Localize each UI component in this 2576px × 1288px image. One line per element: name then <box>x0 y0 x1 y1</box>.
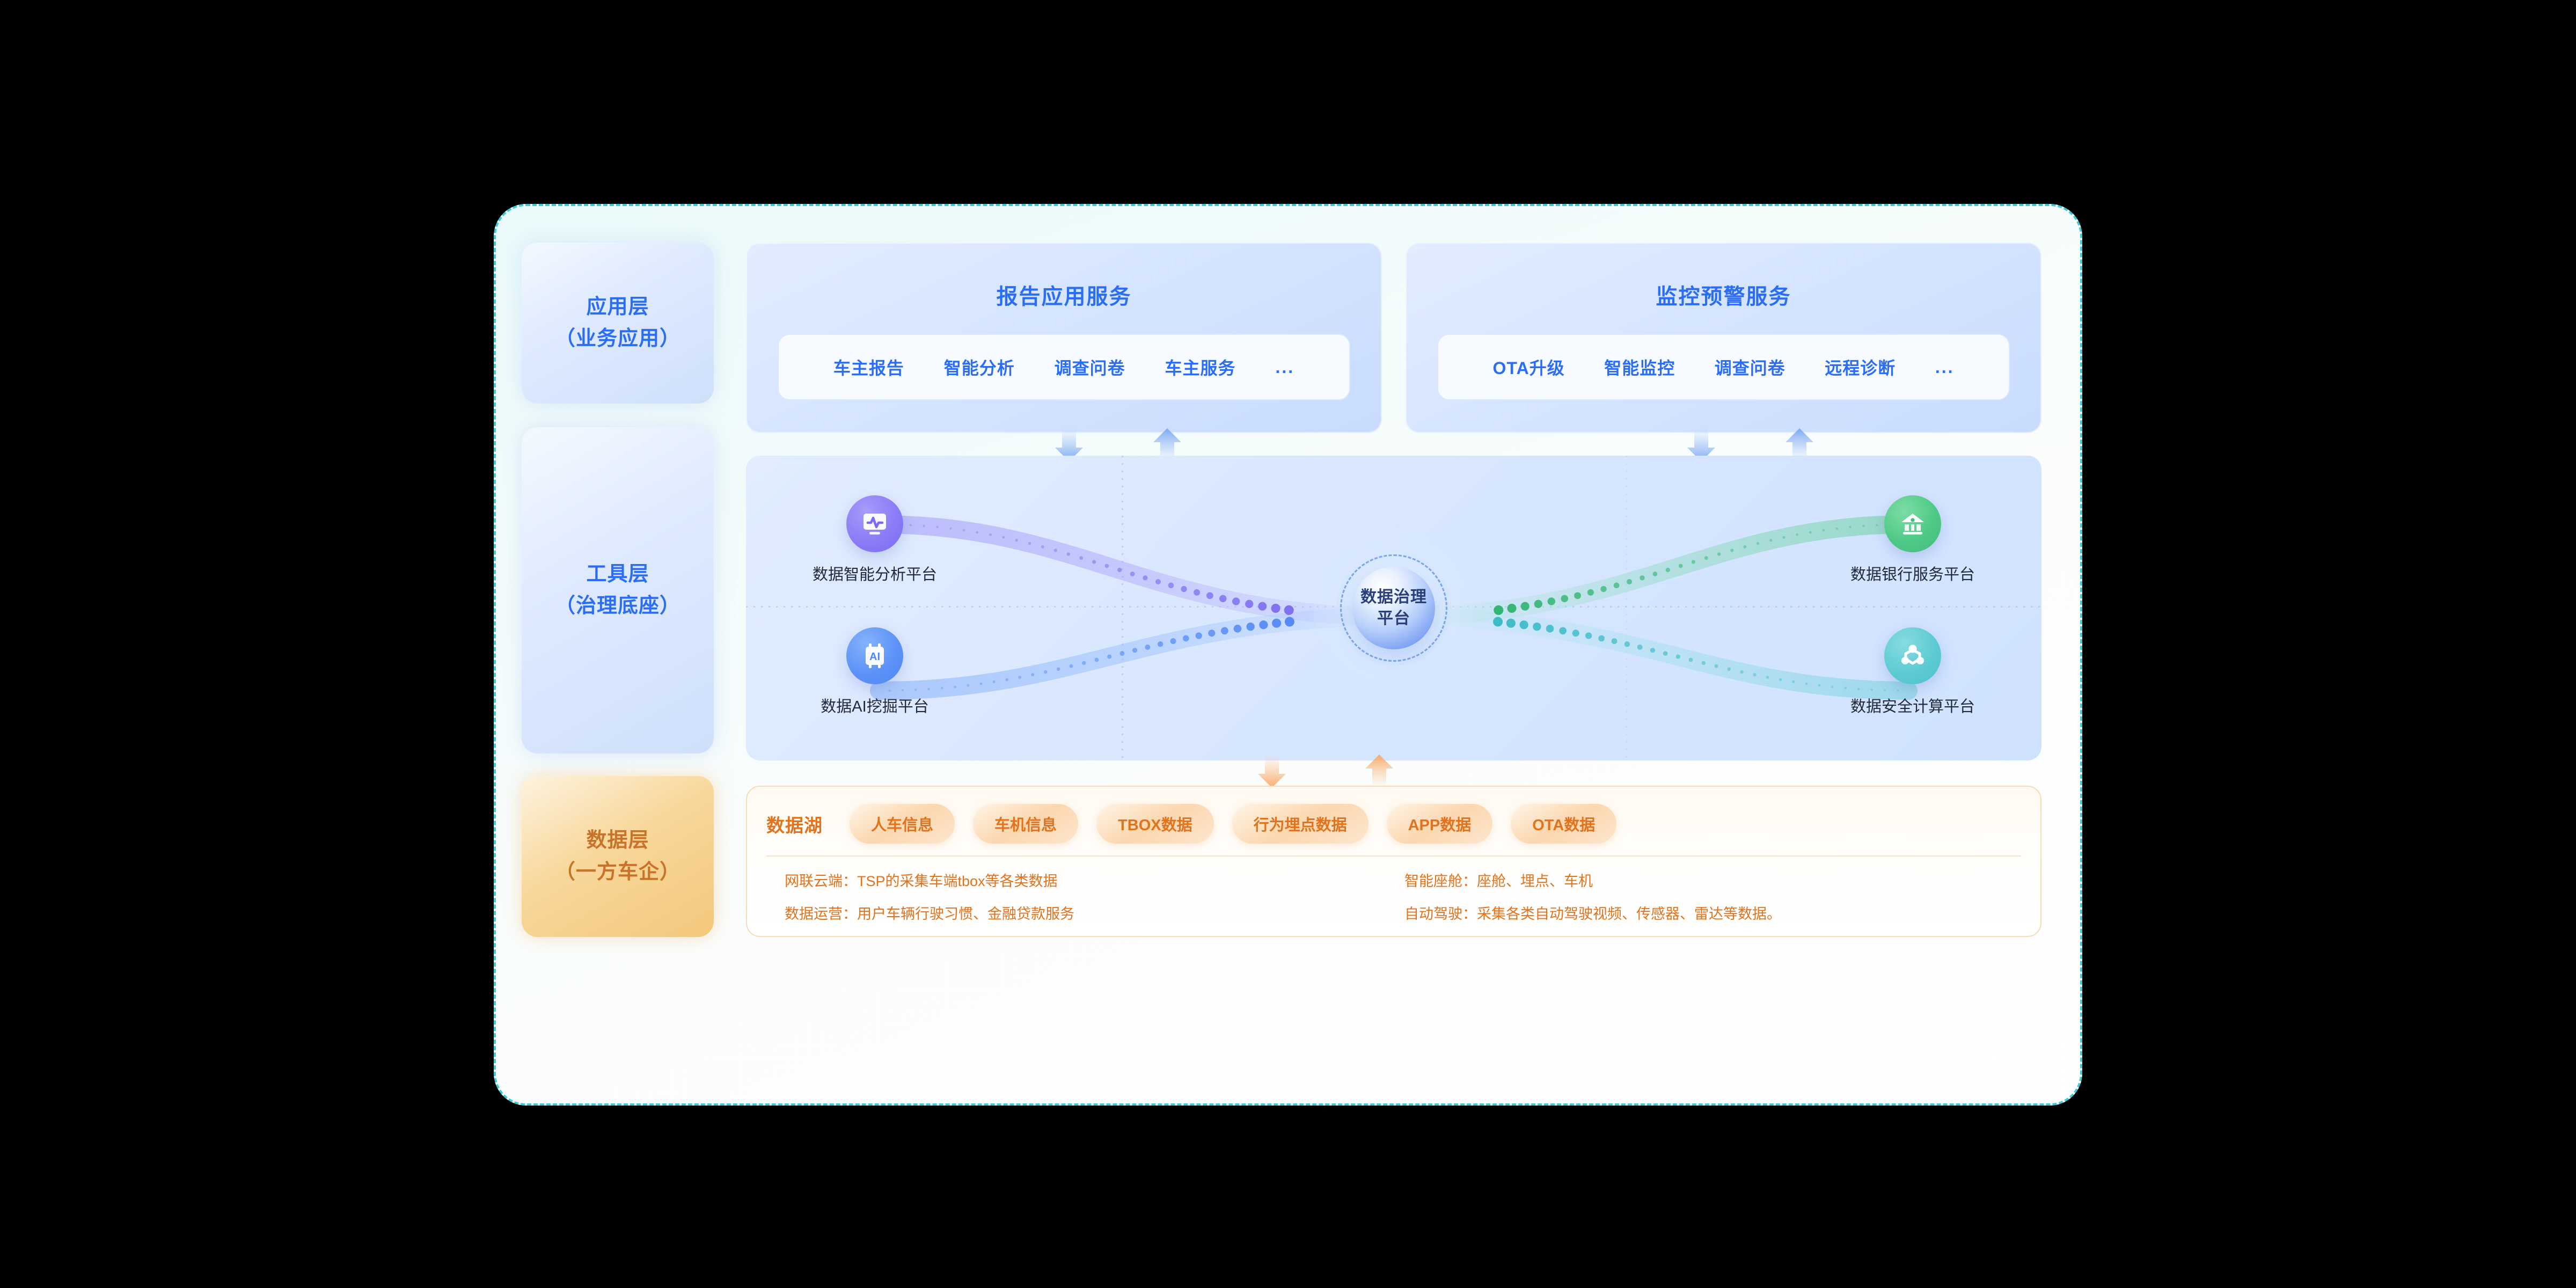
data-lake-description: 智能座舱：座舱、埋点、车机 <box>1404 869 2003 890</box>
data-lake-description: 自动驾驶：采集各类自动驾驶视频、传感器、雷达等数据。 <box>1404 902 2003 923</box>
platform-label: 数据安全计算平台 <box>1850 694 1975 716</box>
layer-card-title: 工具层 <box>586 559 649 590</box>
platform-node-ai[interactable]: AI 数据AI挖掘平台 <box>821 627 928 716</box>
service-item[interactable]: 智能监控 <box>1604 355 1675 379</box>
platform-label: 数据AI挖掘平台 <box>821 694 928 716</box>
platform-label: 数据银行服务平台 <box>1850 562 1975 584</box>
data-lake-title: 数据湖 <box>766 811 823 837</box>
data-lake-tag[interactable]: TBOX数据 <box>1096 804 1214 844</box>
layer-card-tool[interactable]: 工具层 （治理底座） <box>522 427 714 753</box>
service-item[interactable]: 远程诊断 <box>1825 355 1896 379</box>
data-lake-tag[interactable]: APP数据 <box>1387 804 1493 844</box>
data-lake-description: 网联云端：TSP的采集车端tbox等各类数据 <box>785 869 1383 890</box>
center-title-line2: 平台 <box>1377 608 1410 630</box>
svg-text:AI: AI <box>869 651 880 663</box>
layer-card-data[interactable]: 数据层 （一方车企） <box>522 776 714 937</box>
service-item-more[interactable]: ... <box>1935 357 1955 377</box>
service-panel-report[interactable]: 报告应用服务 车主报告 智能分析 调查问卷 车主服务 ... <box>746 243 1382 433</box>
ai-chip-icon: AI <box>846 627 903 684</box>
layer-card-title: 应用层 <box>586 291 649 323</box>
data-lake-tag[interactable]: OTA数据 <box>1511 804 1616 844</box>
shield-network-icon <box>1884 627 1941 684</box>
service-panel-title: 监控预警服务 <box>1656 279 1791 310</box>
service-panel-monitor[interactable]: 监控预警服务 OTA升级 智能监控 调查问卷 远程诊断 ... <box>1406 243 2041 433</box>
service-item[interactable]: 调查问卷 <box>1715 355 1785 379</box>
data-lake-description-grid: 网联云端：TSP的采集车端tbox等各类数据 智能座舱：座舱、埋点、车机 数据运… <box>785 868 2003 924</box>
layer-card-subtitle: （业务应用） <box>555 323 680 355</box>
platform-node-analysis[interactable]: 数据智能分析平台 <box>821 495 928 584</box>
service-item-more[interactable]: ... <box>1275 357 1294 377</box>
layer-card-subtitle: （一方车企） <box>555 857 680 888</box>
layer-card-title: 数据层 <box>586 825 649 857</box>
data-lake-tag[interactable]: 行为埋点数据 <box>1232 804 1368 844</box>
data-lake-description: 数据运营：用户车辆行驶习惯、金融贷款服务 <box>785 902 1383 923</box>
center-title-line1: 数据治理 <box>1360 587 1427 609</box>
data-lake-tag[interactable]: 人车信息 <box>850 804 955 844</box>
service-item[interactable]: 调查问卷 <box>1055 355 1125 379</box>
service-item[interactable]: 车主报告 <box>833 355 904 379</box>
platform-label: 数据智能分析平台 <box>813 562 937 584</box>
layer-card-subtitle: （治理底座） <box>555 590 680 622</box>
monitor-waveform-icon <box>846 495 903 552</box>
platform-node-sec[interactable]: 数据安全计算平台 <box>1859 627 1966 716</box>
center-node-data-governance[interactable]: 数据治理 平台 <box>1313 528 1474 689</box>
service-panel-title: 报告应用服务 <box>997 279 1132 310</box>
service-item-row: OTA升级 智能监控 调查问卷 远程诊断 ... <box>1437 334 2010 400</box>
layer-card-application[interactable]: 应用层 （业务应用） <box>522 243 714 404</box>
center-sphere: 数据治理 平台 <box>1352 567 1435 649</box>
service-item[interactable]: OTA升级 <box>1493 355 1565 379</box>
service-item-row: 车主报告 智能分析 调查问卷 车主服务 ... <box>778 334 1350 400</box>
data-lake-tag-row: 数据湖 人车信息 车机信息 TBOX数据 行为埋点数据 APP数据 OTA数据 <box>766 802 2021 846</box>
data-lake-panel: 数据湖 人车信息 车机信息 TBOX数据 行为埋点数据 APP数据 OTA数据 … <box>746 786 2041 937</box>
tool-layer-panel: 数据智能分析平台 AI 数据AI挖掘平台 <box>746 456 2041 760</box>
architecture-canvas: 应用层 （业务应用） 工具层 （治理底座） 数据层 （一方车企） 报告应用服务 … <box>494 204 2082 1106</box>
data-lake-tag[interactable]: 车机信息 <box>973 804 1078 844</box>
data-lake-divider <box>766 855 2021 857</box>
bank-building-icon <box>1884 495 1941 552</box>
service-item[interactable]: 智能分析 <box>944 355 1015 379</box>
service-item[interactable]: 车主服务 <box>1165 355 1236 379</box>
platform-node-bank[interactable]: 数据银行服务平台 <box>1859 495 1966 584</box>
